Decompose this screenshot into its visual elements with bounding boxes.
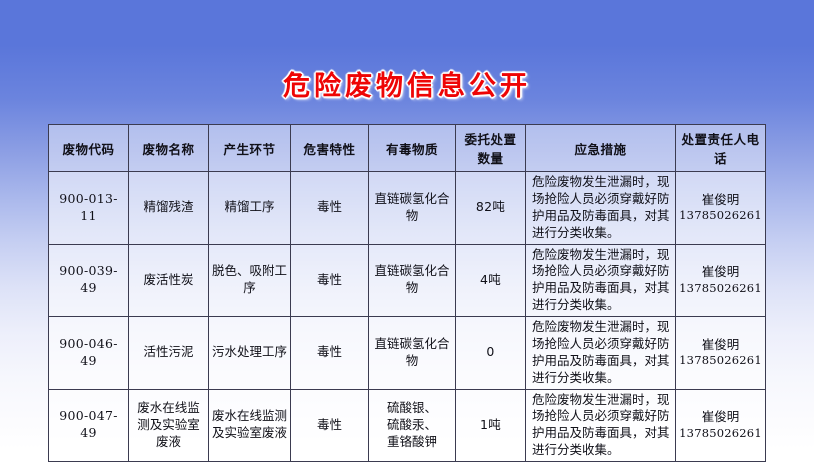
slide-canvas: 危险废物信息公开 废物代码 废物名称 产生环节 危害特性 有毒物质 委托处置数量… <box>0 0 814 450</box>
cell-responsible-contact: 崔俊明13785026261 <box>676 317 766 390</box>
contact-name: 崔俊明 <box>679 337 762 354</box>
cell-emergency-measures: 危险废物发生泄漏时，现场抢险人员必须穿戴好防护用品及防毒面具，对其进行分类收集。 <box>526 389 676 462</box>
cell-hazard-property: 毒性 <box>291 389 369 462</box>
table-header-row: 废物代码 废物名称 产生环节 危害特性 有毒物质 委托处置数量 应急措施 处置责… <box>49 125 766 172</box>
hazardous-waste-table: 废物代码 废物名称 产生环节 危害特性 有毒物质 委托处置数量 应急措施 处置责… <box>48 124 766 462</box>
cell-responsible-contact: 崔俊明13785026261 <box>676 389 766 462</box>
cell-responsible-contact: 崔俊明13785026261 <box>676 172 766 245</box>
cell-waste-name: 废活性炭 <box>129 244 209 317</box>
cell-entrusted-quantity: 82吨 <box>456 172 526 245</box>
column-header-entrusted-quantity: 委托处置数量 <box>456 125 526 172</box>
cell-emergency-measures: 危险废物发生泄漏时，现场抢险人员必须穿戴好防护用品及防毒面具，对其进行分类收集。 <box>526 244 676 317</box>
table-row: 900-046-49活性污泥污水处理工序毒性直链碳氢化合物0危险废物发生泄漏时，… <box>49 317 766 390</box>
cell-hazard-property: 毒性 <box>291 172 369 245</box>
cell-entrusted-quantity: 1吨 <box>456 389 526 462</box>
table-body: 900-013-11精馏残渣精馏工序毒性直链碳氢化合物82吨危险废物发生泄漏时，… <box>49 172 766 462</box>
column-header-responsible-phone: 处置责任人电话 <box>676 125 766 172</box>
cell-waste-name: 活性污泥 <box>129 317 209 390</box>
cell-toxic-substance: 硫酸银、硫酸汞、重铬酸钾 <box>369 389 456 462</box>
column-header-waste-code: 废物代码 <box>49 125 129 172</box>
table-row: 900-039-49废活性炭脱色、吸附工序毒性直链碳氢化合物4吨危险废物发生泄漏… <box>49 244 766 317</box>
cell-waste-name: 废水在线监测及实验室废液 <box>129 389 209 462</box>
cell-waste-name: 精馏残渣 <box>129 172 209 245</box>
page-title: 危险废物信息公开 <box>0 64 814 103</box>
cell-generation-stage: 脱色、吸附工序 <box>209 244 291 317</box>
cell-waste-code: 900-047-49 <box>49 389 129 462</box>
cell-toxic-substance: 直链碳氢化合物 <box>369 317 456 390</box>
cell-generation-stage: 废水在线监测及实验室废液 <box>209 389 291 462</box>
cell-waste-code: 900-013-11 <box>49 172 129 245</box>
cell-toxic-substance: 直链碳氢化合物 <box>369 172 456 245</box>
cell-hazard-property: 毒性 <box>291 244 369 317</box>
cell-waste-code: 900-039-49 <box>49 244 129 317</box>
cell-waste-code: 900-046-49 <box>49 317 129 390</box>
table-row: 900-047-49废水在线监测及实验室废液废水在线监测及实验室废液毒性硫酸银、… <box>49 389 766 462</box>
cell-entrusted-quantity: 0 <box>456 317 526 390</box>
column-header-toxic-substance: 有毒物质 <box>369 125 456 172</box>
table-row: 900-013-11精馏残渣精馏工序毒性直链碳氢化合物82吨危险废物发生泄漏时，… <box>49 172 766 245</box>
contact-name: 崔俊明 <box>679 264 762 281</box>
cell-entrusted-quantity: 4吨 <box>456 244 526 317</box>
contact-phone: 13785026261 <box>679 353 762 369</box>
contact-name: 崔俊明 <box>679 192 762 209</box>
contact-phone: 13785026261 <box>679 281 762 297</box>
column-header-generation-stage: 产生环节 <box>209 125 291 172</box>
cell-generation-stage: 污水处理工序 <box>209 317 291 390</box>
cell-emergency-measures: 危险废物发生泄漏时，现场抢险人员必须穿戴好防护用品及防毒面具，对其进行分类收集。 <box>526 317 676 390</box>
cell-hazard-property: 毒性 <box>291 317 369 390</box>
contact-name: 崔俊明 <box>679 409 762 426</box>
column-header-emergency-measures: 应急措施 <box>526 125 676 172</box>
column-header-waste-name: 废物名称 <box>129 125 209 172</box>
cell-toxic-substance: 直链碳氢化合物 <box>369 244 456 317</box>
cell-responsible-contact: 崔俊明13785026261 <box>676 244 766 317</box>
contact-phone: 13785026261 <box>679 426 762 442</box>
cell-emergency-measures: 危险废物发生泄漏时，现场抢险人员必须穿戴好防护用品及防毒面具，对其进行分类收集。 <box>526 172 676 245</box>
column-header-hazard-property: 危害特性 <box>291 125 369 172</box>
cell-generation-stage: 精馏工序 <box>209 172 291 245</box>
contact-phone: 13785026261 <box>679 208 762 224</box>
